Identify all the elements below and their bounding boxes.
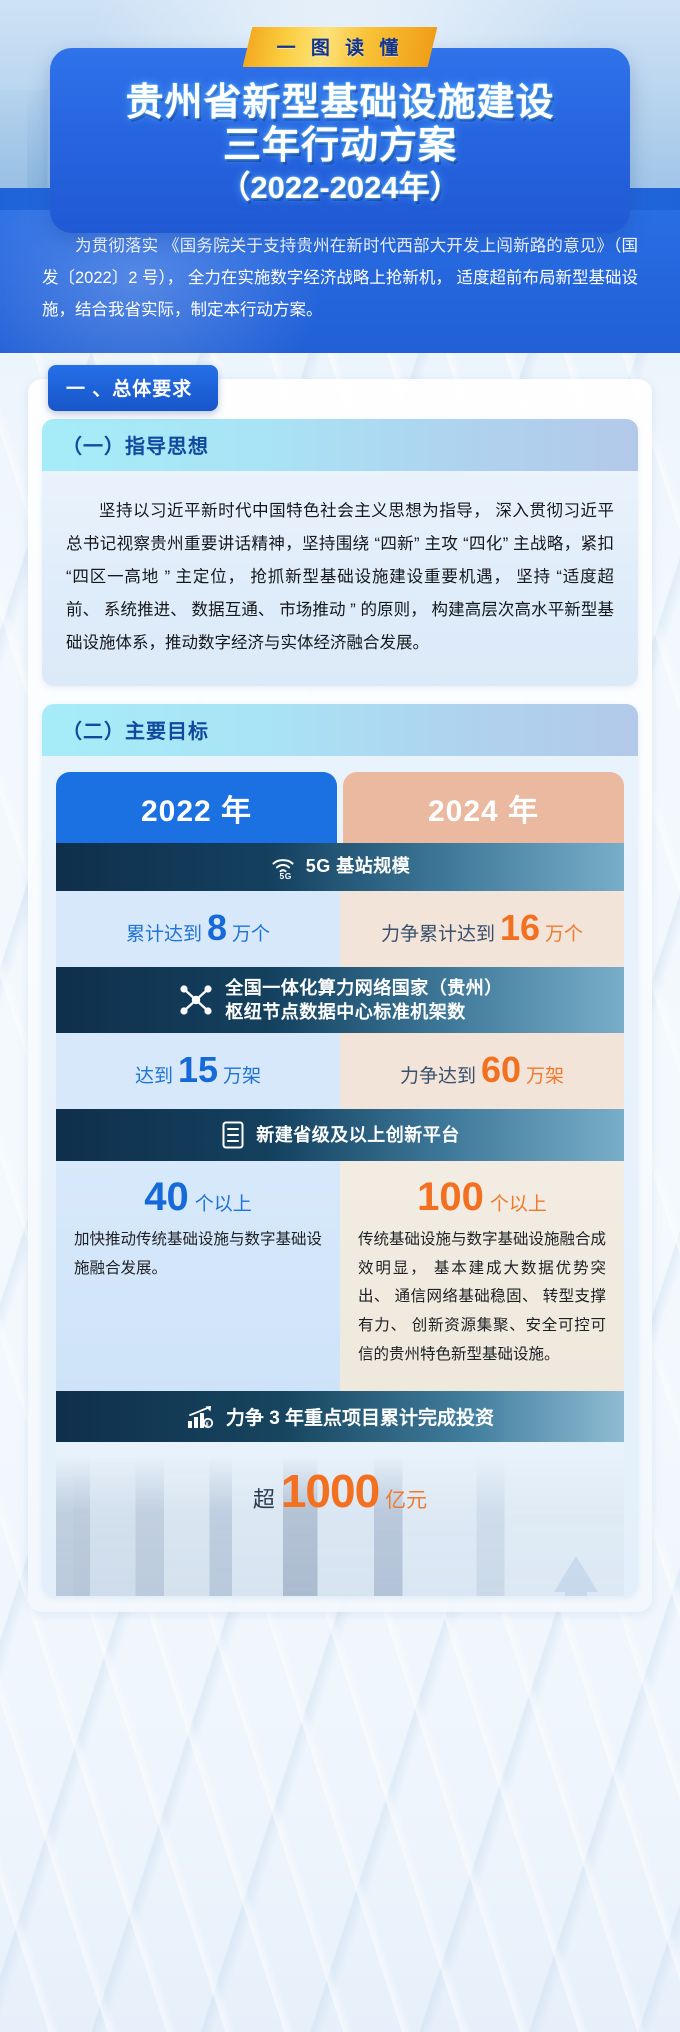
column-header-2022: 2022 年 — [56, 772, 337, 843]
investment-number: 1000 — [281, 1464, 379, 1518]
subcard-goals-body: 2022 年 2024 年 5G — [42, 756, 638, 1597]
value-cell-hub-2024: 力争达到 60 万架 — [340, 1033, 624, 1109]
platform-suffix-2024: 个以上 — [490, 1189, 547, 1216]
subcard-guiding-ideology: （一）指导思想 坚持以习近平新时代中国特色社会主义思想为指导， 深入贯彻习近平总… — [42, 419, 638, 686]
metric-bar-investment: ¥ 力争 3 年重点项目累计完成投资 — [56, 1391, 624, 1442]
platform-cell-2024: 100 个以上 传统基础设施与数字基础设施融合成效明显， 基本建成大数据优势突出… — [340, 1161, 624, 1391]
up-arrow-decoration — [554, 1556, 598, 1592]
platform-number-line-2024: 100 个以上 — [358, 1175, 606, 1220]
metric-label-computing-hub-line2: 枢纽节点数据中心标准机架数 — [225, 1002, 466, 1022]
values-row-computing-hub: 达到 15 万架 力争达到 60 万架 — [56, 1033, 624, 1109]
value-cell-5g-2022: 累计达到 8 万个 — [56, 891, 340, 967]
value-number-5g-2024: 16 — [500, 907, 540, 949]
badge-label: 一 图 读 懂 — [277, 33, 404, 60]
metric-label-innovation-platform: 新建省级及以上创新平台 — [256, 1123, 460, 1147]
yitu-dudong-badge: 一 图 读 懂 — [243, 27, 438, 67]
value-label-hub-2024: 力争达到 — [400, 1061, 476, 1088]
investment-value-area: 超 1000 亿元 — [56, 1442, 624, 1596]
badge-container: 一 图 读 懂 — [0, 27, 680, 67]
value-number-5g-2022: 8 — [207, 907, 227, 949]
subcard-goals-title: （二）主要目标 — [62, 715, 618, 744]
section-overall-requirements: 一 、总体要求 （一）指导思想 坚持以习近平新时代中国特色社会主义思想为指导， … — [28, 379, 652, 1613]
metric-label-computing-hub-line1: 全国一体化算力网络国家（贵州） — [225, 978, 503, 998]
value-unit-5g-2022: 万个 — [232, 919, 270, 946]
metric-label-5g: 5G 基站规模 — [306, 854, 411, 878]
title-card: 贵州省新型基础设施建设 三年行动方案 （2022-2024年） — [50, 48, 630, 233]
page-title-line1: 贵州省新型基础设施建设 — [68, 82, 612, 125]
platform-number-2022: 40 — [144, 1175, 189, 1220]
metric-bar-innovation-platform: 新建省级及以上创新平台 — [56, 1109, 624, 1161]
document-list-icon — [220, 1120, 246, 1150]
platform-number-line-2022: 40 个以上 — [74, 1175, 322, 1220]
platform-description-2024: 传统基础设施与数字基础设施融合成效明显， 基本建成大数据优势突出、 通信网络基础… — [358, 1226, 606, 1369]
guiding-ideology-paragraph: 坚持以习近平新时代中国特色社会主义思想为指导， 深入贯彻习近平总书记视察贵州重要… — [66, 495, 614, 660]
value-unit-5g-2024: 万个 — [545, 919, 583, 946]
value-number-hub-2024: 60 — [481, 1049, 521, 1091]
platform-cell-2022: 40 个以上 加快推动传统基础设施与数字基础设施融合发展。 — [56, 1161, 340, 1391]
subcard-guiding-body: 坚持以习近平新时代中国特色社会主义思想为指导， 深入贯彻习近平总书记视察贵州重要… — [42, 471, 638, 686]
bar-chart-growth-icon: ¥ — [186, 1404, 216, 1430]
page-title-line2: 三年行动方案 — [68, 125, 612, 168]
investment-prefix: 超 — [253, 1482, 275, 1514]
content-area: 一 、总体要求 （一）指导思想 坚持以习近平新时代中国特色社会主义思想为指导， … — [0, 353, 680, 1613]
metric-bar-computing-hub: 全国一体化算力网络国家（贵州） 枢纽节点数据中心标准机架数 — [56, 967, 624, 1034]
column-header-2024: 2024 年 — [343, 772, 624, 843]
investment-row: ¥ 力争 3 年重点项目累计完成投资 超 1000 — [56, 1391, 624, 1596]
platform-description-2022: 加快推动传统基础设施与数字基础设施融合发展。 — [74, 1226, 322, 1283]
value-number-hub-2022: 15 — [178, 1049, 218, 1091]
infographic-page: 一 图 读 懂 贵州省新型基础设施建设 三年行动方案 （2022-2024年） … — [0, 0, 680, 2032]
wifi-5g-icon: 5G — [270, 854, 296, 880]
value-label-5g-2022: 累计达到 — [126, 919, 202, 946]
subcard-goals-header: （二）主要目标 — [42, 704, 638, 756]
investment-unit: 亿元 — [385, 1484, 427, 1514]
subcard-main-goals: （二）主要目标 2022 年 2024 年 — [42, 704, 638, 1597]
value-cell-hub-2022: 达到 15 万架 — [56, 1033, 340, 1109]
values-row-5g: 累计达到 8 万个 力争累计达到 16 万个 — [56, 891, 624, 967]
subcard-guiding-title: （一）指导思想 — [62, 430, 618, 459]
platform-number-2024: 100 — [417, 1175, 484, 1220]
intro-paragraph: 为贯彻落实 《国务院关于支持贵州在新时代西部大开发上闯新路的意见》（国发〔202… — [42, 230, 638, 327]
investment-value-line: 超 1000 亿元 — [253, 1464, 427, 1518]
metric-bar-5g: 5G 5G 基站规模 — [56, 843, 624, 891]
goals-table-header-row: 2022 年 2024 年 — [56, 772, 624, 843]
goals-table: 2022 年 2024 年 5G — [56, 772, 624, 1597]
values-row-innovation-platform: 40 个以上 加快推动传统基础设施与数字基础设施融合发展。 100 个以上 — [56, 1161, 624, 1391]
value-label-hub-2022: 达到 — [135, 1061, 173, 1088]
page-title-years: （2022-2024年） — [68, 170, 612, 205]
metric-label-computing-hub: 全国一体化算力网络国家（贵州） 枢纽节点数据中心标准机架数 — [225, 976, 503, 1025]
value-cell-5g-2024: 力争累计达到 16 万个 — [340, 891, 624, 967]
svg-text:5G: 5G — [279, 871, 291, 880]
section-tab-label: 一 、总体要求 — [48, 365, 218, 411]
platform-suffix-2022: 个以上 — [195, 1189, 252, 1216]
subcard-guiding-header: （一）指导思想 — [42, 419, 638, 471]
value-unit-hub-2024: 万架 — [526, 1061, 564, 1088]
network-nodes-icon — [177, 983, 215, 1017]
value-unit-hub-2022: 万架 — [223, 1061, 261, 1088]
value-label-5g-2024: 力争累计达到 — [381, 919, 495, 946]
metric-label-investment: 力争 3 年重点项目累计完成投资 — [226, 1403, 494, 1430]
